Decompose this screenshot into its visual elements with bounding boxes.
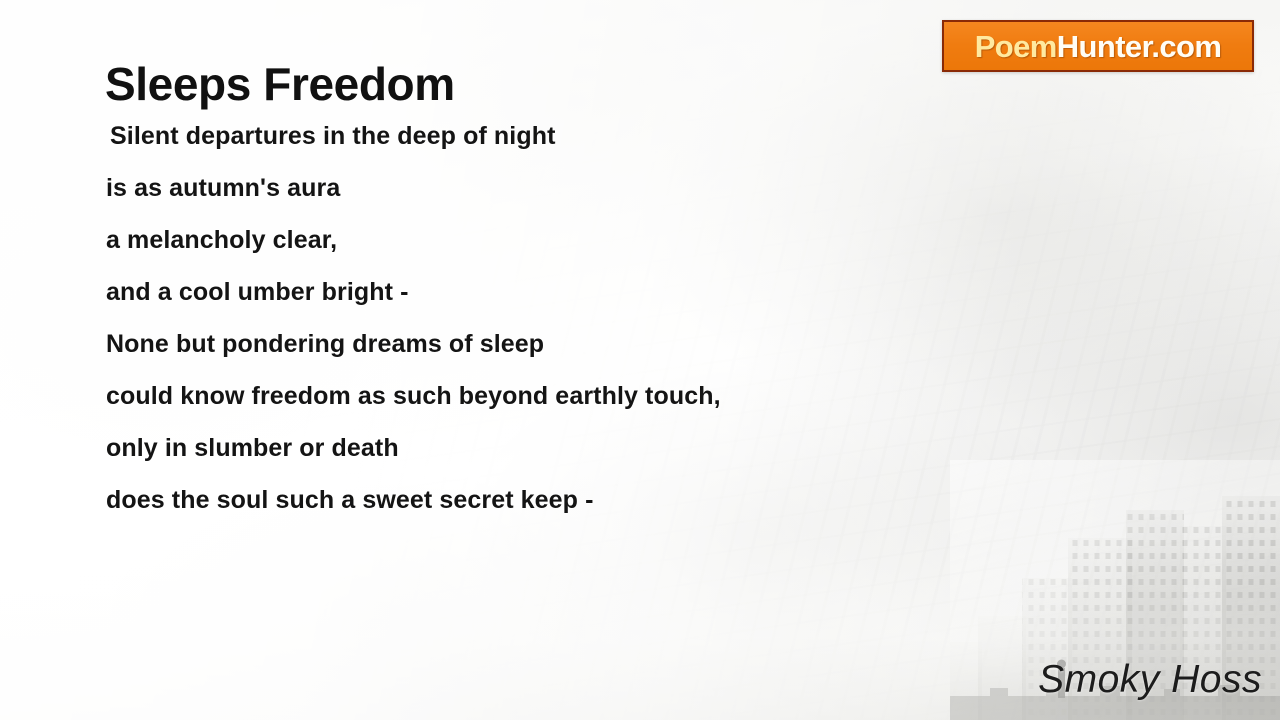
logo-word-hunter: Hunter.com: [1057, 29, 1222, 64]
poem-card: Sleeps Freedom Silent departures in the …: [0, 0, 1280, 720]
poem-line: could know freedom as such beyond earthl…: [106, 370, 926, 422]
poem-line: a melancholy clear,: [106, 214, 926, 266]
poem-line: Silent departures in the deep of night: [106, 110, 926, 162]
poem-line: is as autumn's aura: [106, 162, 926, 214]
logo-word-poem: Poem: [975, 29, 1057, 64]
poem-line: None but pondering dreams of sleep: [106, 318, 926, 370]
poem-line: and a cool umber bright -: [106, 266, 926, 318]
poem-line: only in slumber or death: [106, 422, 926, 474]
poem-body: Silent departures in the deep of night i…: [106, 110, 926, 526]
poem-title: Sleeps Freedom: [105, 57, 455, 111]
poem-line: does the soul such a sweet secret keep -: [106, 474, 926, 526]
poemhunter-logo-text: PoemHunter.com: [975, 31, 1222, 62]
poem-content: Sleeps Freedom Silent departures in the …: [0, 0, 1280, 720]
poem-author: Smoky Hoss: [1038, 658, 1262, 702]
poemhunter-logo[interactable]: PoemHunter.com: [942, 20, 1254, 72]
